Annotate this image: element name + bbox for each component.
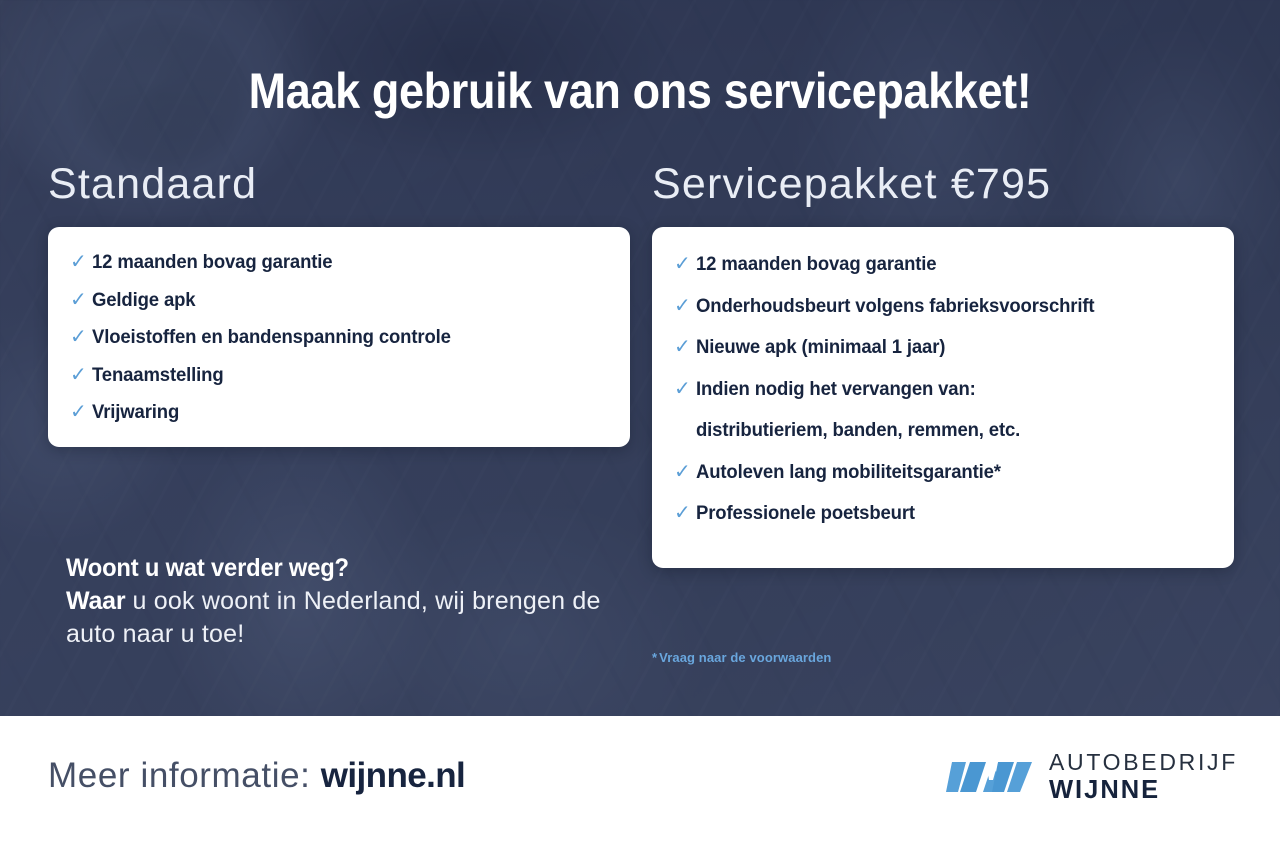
check-icon: ✓: [674, 253, 696, 277]
column-servicepakket: Servicepakket €795 ✓ 12 maanden bovag ga…: [652, 163, 1234, 568]
footer-info-label: Meer informatie:: [48, 756, 310, 795]
delivery-body: Waar u ook woont in Nederland, wij breng…: [66, 585, 636, 652]
check-icon: ✓: [674, 378, 696, 402]
check-icon: ✓: [674, 336, 696, 360]
footnote: *Vraag naar de voorwaarden: [652, 650, 831, 665]
logo-line-autobedrijf: AUTOBEDRIJF: [1049, 750, 1238, 776]
feature-item: ✓ 12 maanden bovag garantie: [70, 251, 604, 275]
feature-label: Vloeistoffen en bandenspanning controle: [92, 326, 451, 349]
feature-item-continuation: distributieriem, banden, remmen, etc.: [674, 419, 1208, 442]
feature-label: Tenaamstelling: [92, 364, 224, 387]
column-standaard: Standaard ✓ 12 maanden bovag garantie ✓ …: [48, 163, 630, 447]
check-icon: ✓: [674, 461, 696, 485]
headline: Maak gebruik van ons servicepakket!: [64, 62, 1216, 120]
footer-info: Meer informatie: wijnne.nl: [48, 756, 465, 796]
feature-label: Onderhoudsbeurt volgens fabrieksvoorschr…: [696, 295, 1094, 318]
column-title-standaard: Standaard: [48, 163, 630, 206]
feature-label: Professionele poetsbeurt: [696, 502, 915, 525]
footer-bar: Meer informatie: wijnne.nl AUTOBEDRIJF W…: [0, 716, 1280, 853]
website-link[interactable]: wijnne.nl: [321, 756, 465, 795]
card-standaard: ✓ 12 maanden bovag garantie ✓ Geldige ap…: [48, 227, 630, 447]
feature-item: ✓ Vrijwaring: [70, 401, 604, 425]
delivery-emphasis: Waar: [66, 587, 125, 615]
feature-label: Nieuwe apk (minimaal 1 jaar): [696, 336, 945, 359]
check-icon: ✓: [70, 364, 92, 388]
feature-item: ✓ Indien nodig het vervangen van:: [674, 378, 1208, 402]
feature-label: Geldige apk: [92, 289, 195, 312]
feature-label: Vrijwaring: [92, 401, 179, 424]
feature-item: ✓ Professionele poetsbeurt: [674, 502, 1208, 526]
check-icon: ✓: [70, 289, 92, 313]
card-servicepakket: ✓ 12 maanden bovag garantie ✓ Onderhouds…: [652, 227, 1234, 568]
feature-label: Autoleven lang mobiliteitsgarantie*: [696, 461, 1001, 484]
wijnne-w-mark-icon: [946, 752, 1032, 802]
feature-item: ✓ Nieuwe apk (minimaal 1 jaar): [674, 336, 1208, 360]
footnote-asterisk: *: [652, 650, 657, 665]
feature-item: ✓ 12 maanden bovag garantie: [674, 253, 1208, 277]
footnote-text: Vraag naar de voorwaarden: [659, 650, 831, 665]
check-icon: ✓: [70, 326, 92, 350]
delivery-question: Woont u wat verder weg?: [66, 552, 608, 585]
logo-wordmark: AUTOBEDRIJF WIJNNE: [1049, 750, 1238, 804]
feature-item: ✓ Onderhoudsbeurt volgens fabrieksvoorsc…: [674, 295, 1208, 319]
feature-item: ✓ Geldige apk: [70, 289, 604, 313]
feature-label: 12 maanden bovag garantie: [92, 251, 332, 274]
delivery-body-rest: u ook woont in Nederland, wij brengen de…: [66, 587, 601, 648]
check-icon: ✓: [70, 401, 92, 425]
check-icon: ✓: [674, 295, 696, 319]
delivery-message: Woont u wat verder weg? Waar u ook woont…: [66, 552, 636, 652]
feature-label: Indien nodig het vervangen van:: [696, 378, 976, 401]
logo: AUTOBEDRIJF WIJNNE: [946, 750, 1238, 804]
check-icon: ✓: [70, 251, 92, 275]
feature-label: distributieriem, banden, remmen, etc.: [696, 419, 1020, 442]
feature-item: ✓ Vloeistoffen en bandenspanning control…: [70, 326, 604, 350]
check-icon: ✓: [674, 502, 696, 526]
feature-item: ✓ Autoleven lang mobiliteitsgarantie*: [674, 461, 1208, 485]
feature-label: 12 maanden bovag garantie: [696, 253, 936, 276]
feature-item: ✓ Tenaamstelling: [70, 364, 604, 388]
column-title-servicepakket: Servicepakket €795: [652, 163, 1234, 206]
promo-poster: Maak gebruik van ons servicepakket! Stan…: [0, 0, 1280, 853]
logo-line-wijnne: WIJNNE: [1049, 776, 1238, 805]
